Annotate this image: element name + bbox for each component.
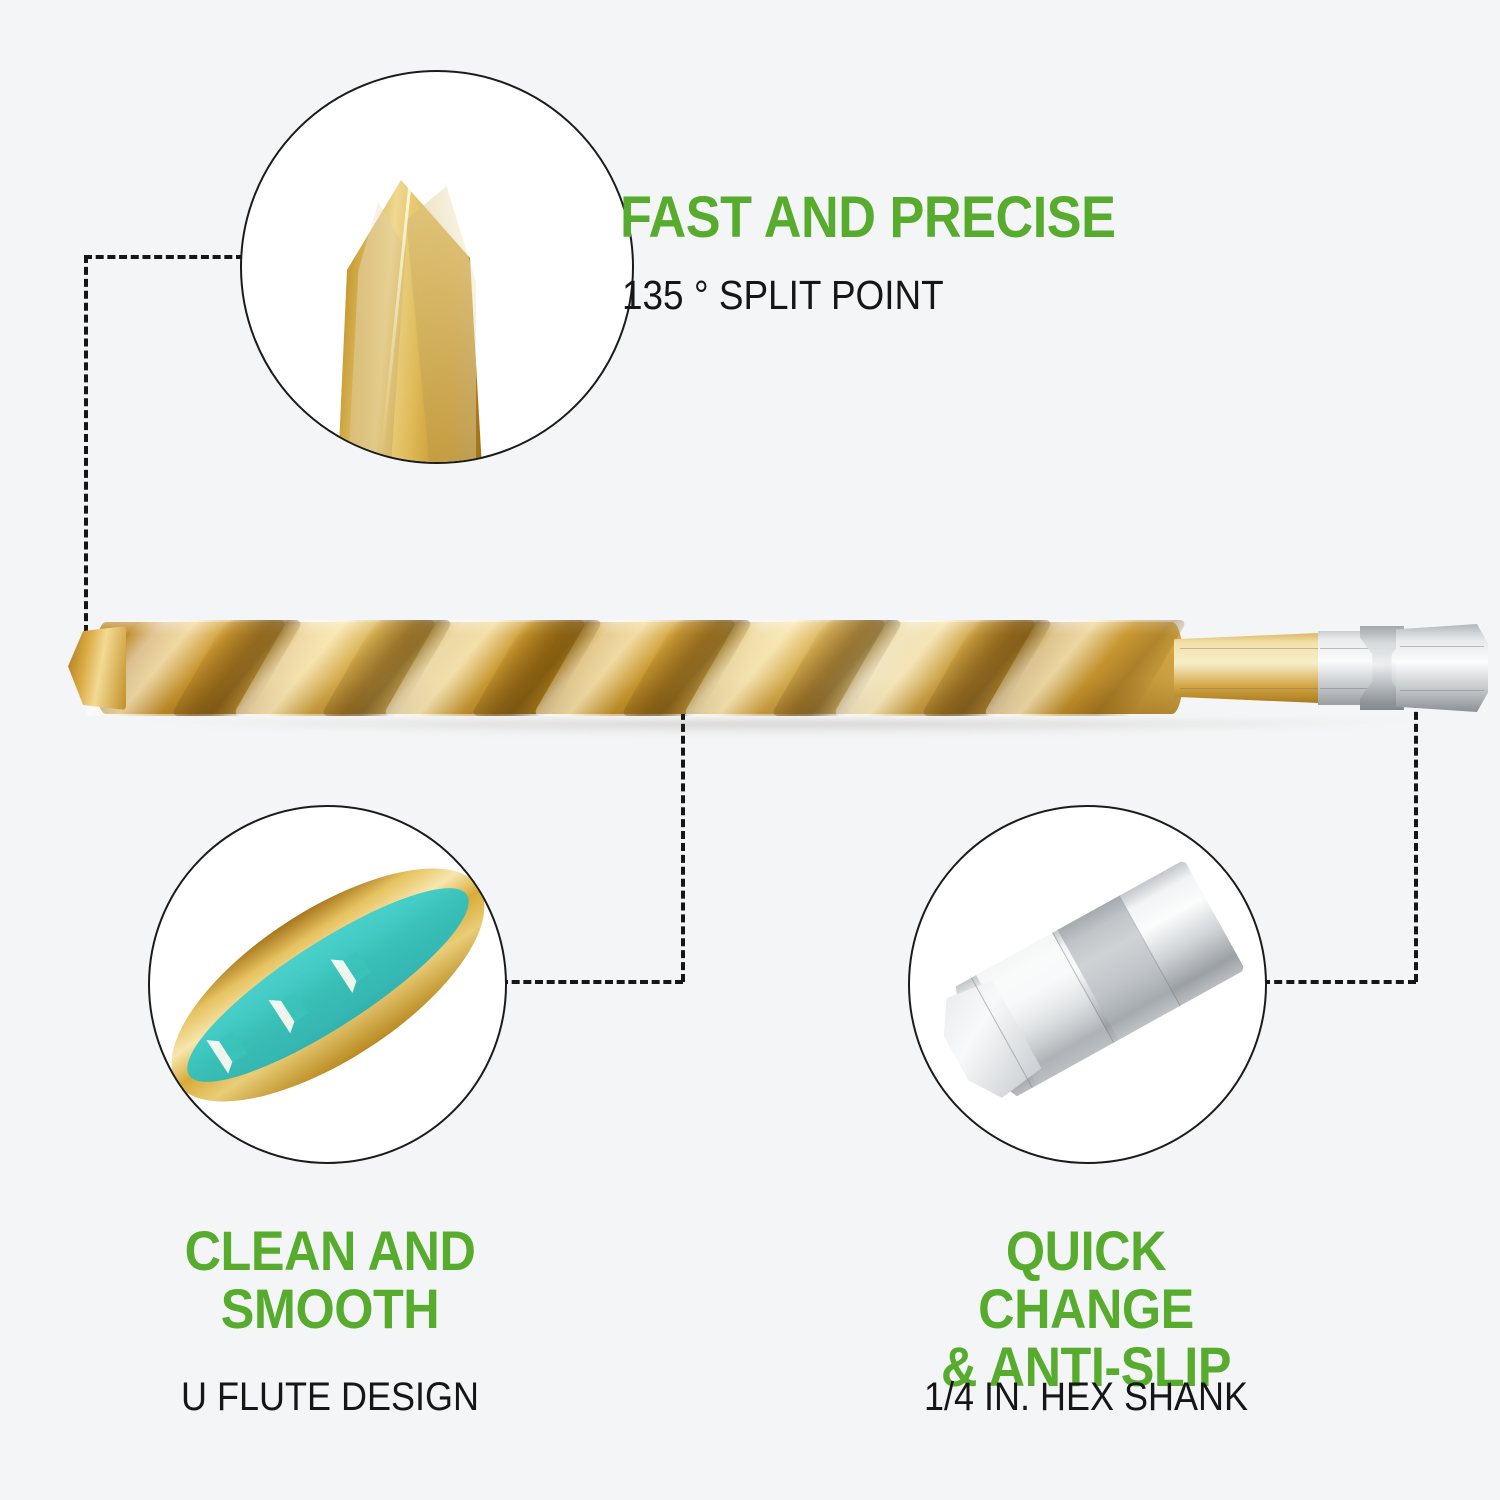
callout-heading-fast-and-precise: FAST AND PRECISE: [620, 188, 1116, 248]
inset-u-flute: [148, 805, 507, 1164]
hex-edge-line: [1180, 648, 1320, 649]
callout-heading-clean-and-smooth: CLEAN AND SMOOTH: [185, 1222, 476, 1338]
hex-shank-body: [930, 859, 1245, 1110]
leader-line-tip-vertical: [84, 255, 88, 633]
drill-bit-product-image: [70, 608, 1418, 726]
u-flute-icon: [150, 807, 505, 1162]
callout-heading-quick-change-anti-slip: QUICK CHANGE & ANTI-SLIP: [900, 1222, 1273, 1397]
leader-line-tip-horizontal: [84, 255, 244, 259]
inset-drill-bit-tip: [240, 70, 634, 464]
hex-shank-end: [1396, 624, 1488, 712]
leader-line-hex-horizontal: [1262, 980, 1416, 984]
callout-subheading-u-flute-design: U FLUTE DESIGN: [181, 1375, 479, 1420]
infographic-canvas: FAST AND PRECISE 135 ° SPLIT POINT CLEAN…: [0, 0, 1500, 1500]
product-shadow: [130, 720, 1430, 736]
hex-edge-line: [1180, 688, 1320, 689]
callout-subheading-hex-shank: 1/4 IN. HEX SHANK: [924, 1375, 1248, 1420]
leader-line-flute-vertical: [681, 700, 685, 982]
callout-subheading-split-point: 135 ° SPLIT POINT: [622, 272, 944, 319]
drill-bit-point: [68, 626, 126, 710]
leader-line-hex-vertical: [1414, 700, 1418, 982]
drill-bit-tip-icon: [332, 168, 482, 464]
hex-edge-line: [1400, 646, 1484, 647]
inset-hex-shank: [908, 805, 1267, 1164]
hex-edge-line: [1400, 690, 1484, 691]
hex-shank-icon: [910, 807, 1265, 1162]
hex-shank-gold-section: [1174, 628, 1324, 708]
leader-line-flute-horizontal: [500, 980, 683, 984]
flute-band: [148, 824, 507, 1146]
